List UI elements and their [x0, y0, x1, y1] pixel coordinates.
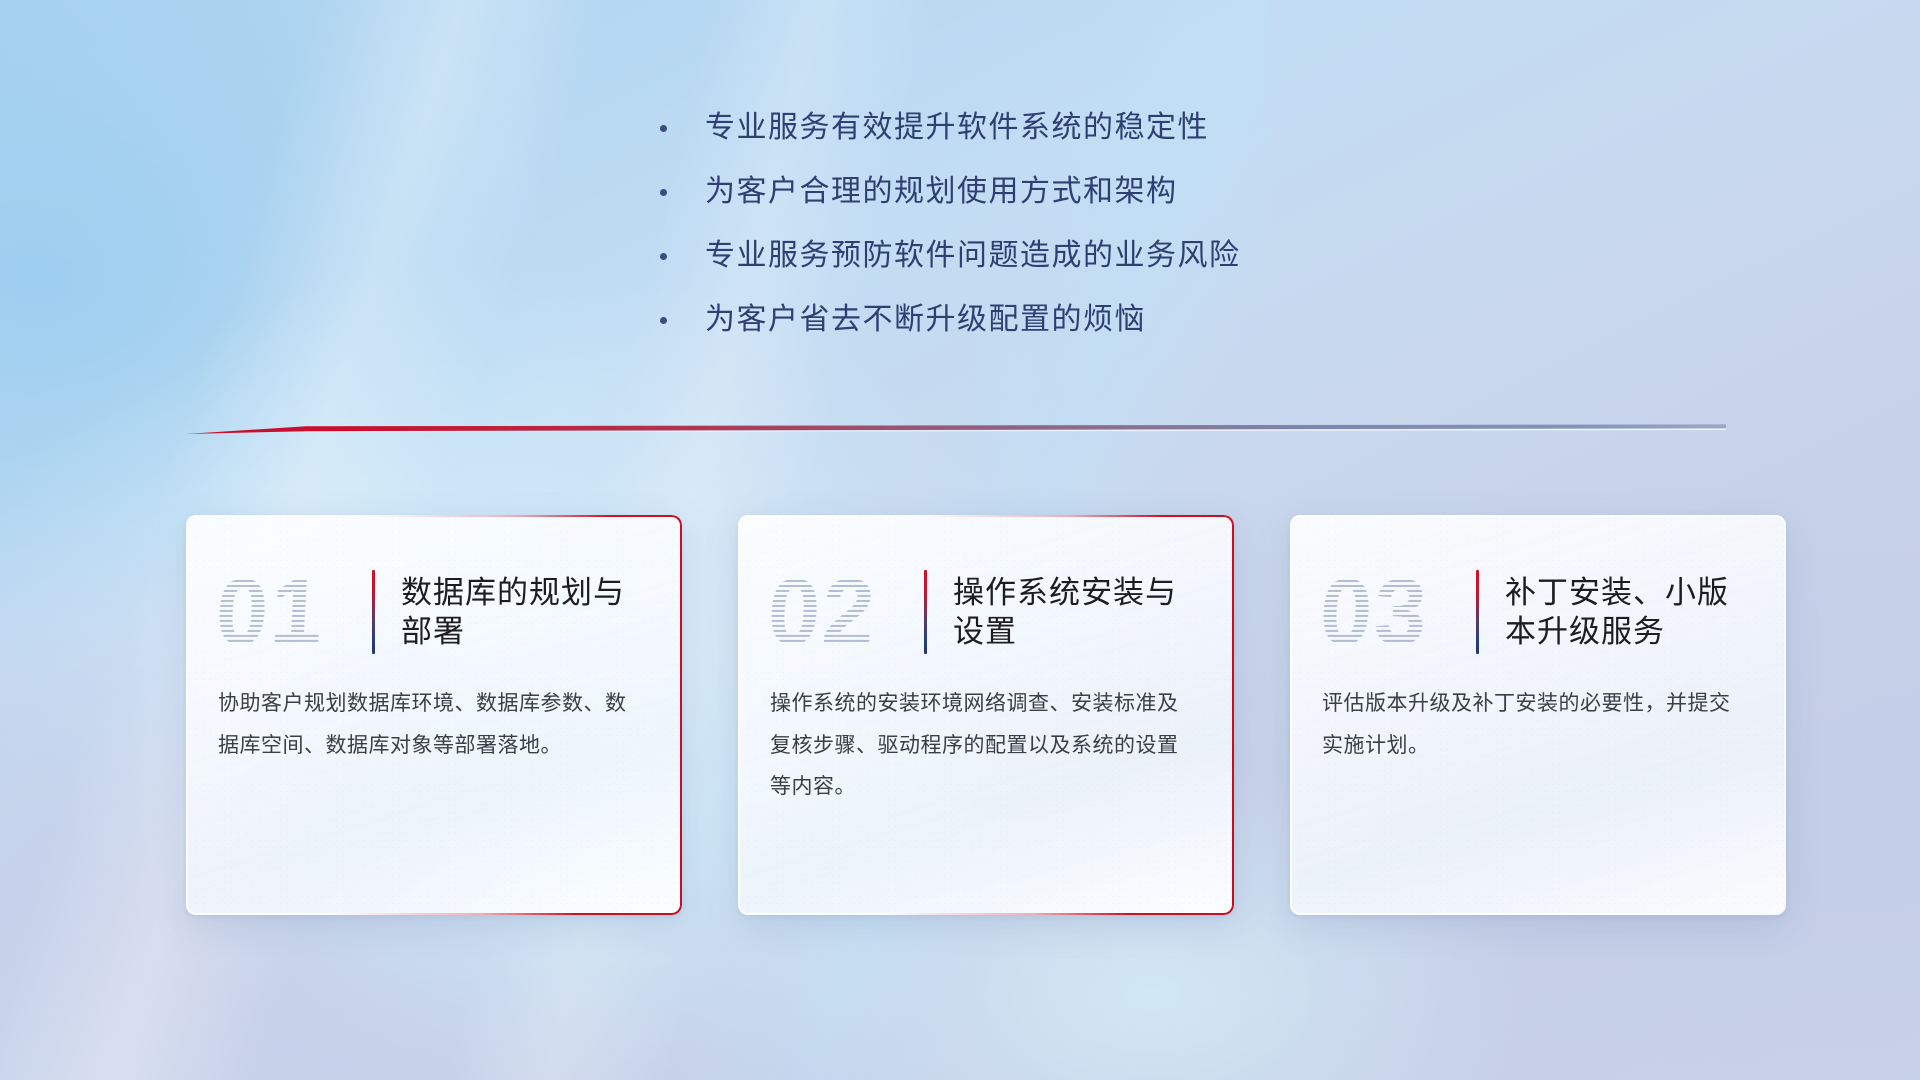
card-number: 03 — [1318, 565, 1473, 659]
service-card-02[interactable]: 02 操作系统安装与设置 操作系统的安装环境网络调查、安装标准及复核步骤、驱动程… — [738, 515, 1234, 915]
card-header: 02 操作系统安装与设置 — [738, 515, 1234, 665]
list-item: 专业服务有效提升软件系统的稳定性 — [660, 96, 1420, 160]
bullet-text: 专业服务有效提升软件系统的稳定性 — [705, 113, 1209, 143]
card-description: 评估版本升级及补丁安装的必要性，并提交实施计划。 — [1290, 665, 1786, 766]
bullet-dot-icon — [660, 253, 667, 260]
bullet-dot-icon — [660, 317, 667, 324]
service-card-01[interactable]: 01 数据库的规划与部署 协助客户规划数据库环境、数据库参数、数据库空间、数据库… — [186, 515, 682, 915]
bullet-text: 专业服务预防软件问题造成的业务风险 — [705, 241, 1241, 271]
card-title-divider — [1476, 570, 1479, 654]
card-description: 协助客户规划数据库环境、数据库参数、数据库空间、数据库对象等部署落地。 — [186, 665, 682, 766]
card-header: 03 补丁安装、小版本升级服务 — [1290, 515, 1786, 665]
card-title-divider — [924, 570, 927, 654]
card-title: 操作系统安装与设置 — [953, 573, 1200, 652]
card-header: 01 数据库的规划与部署 — [186, 515, 682, 665]
list-item: 专业服务预防软件问题造成的业务风险 — [660, 224, 1420, 288]
card-number: 02 — [766, 565, 921, 659]
card-title-divider — [372, 570, 375, 654]
list-item: 为客户合理的规划使用方式和架构 — [660, 160, 1420, 224]
card-title: 补丁安装、小版本升级服务 — [1505, 573, 1752, 652]
bullet-dot-icon — [660, 189, 667, 196]
card-description: 操作系统的安装环境网络调查、安装标准及复核步骤、驱动程序的配置以及系统的设置等内… — [738, 665, 1234, 808]
bullet-text: 为客户省去不断升级配置的烦恼 — [705, 305, 1146, 335]
bullet-text: 为客户合理的规划使用方式和架构 — [705, 177, 1178, 207]
service-cards: 01 数据库的规划与部署 协助客户规划数据库环境、数据库参数、数据库空间、数据库… — [186, 515, 1786, 915]
card-title: 数据库的规划与部署 — [401, 573, 648, 652]
benefits-bullet-list: 专业服务有效提升软件系统的稳定性 为客户合理的规划使用方式和架构 专业服务预防软… — [660, 96, 1420, 352]
section-divider — [186, 424, 1726, 438]
divider-shape — [186, 424, 1726, 438]
list-item: 为客户省去不断升级配置的烦恼 — [660, 288, 1420, 352]
card-number: 01 — [214, 565, 369, 659]
bullet-dot-icon — [660, 125, 667, 132]
slide-canvas: 专业服务有效提升软件系统的稳定性 为客户合理的规划使用方式和架构 专业服务预防软… — [0, 0, 1920, 1080]
service-card-03[interactable]: 03 补丁安装、小版本升级服务 评估版本升级及补丁安装的必要性，并提交实施计划。 — [1290, 515, 1786, 915]
